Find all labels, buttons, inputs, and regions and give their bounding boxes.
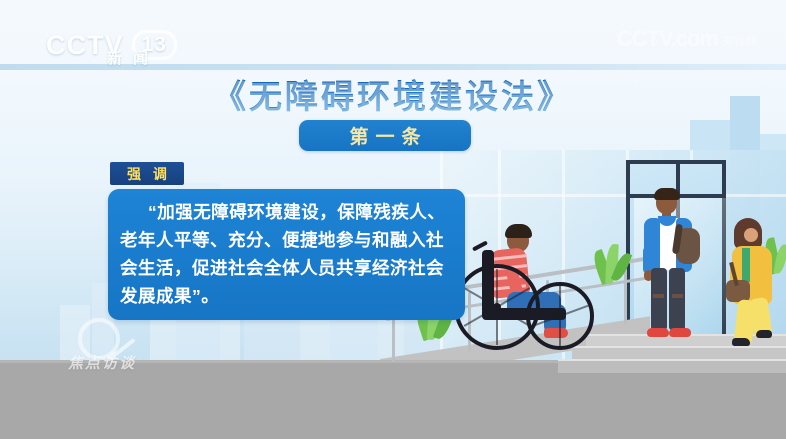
- pavement-ground: [0, 363, 786, 439]
- broadcast-frame: CCTV 13 新闻 CCTV.com 央视网 《无障碍环境建设法》 第一条 强…: [0, 0, 786, 439]
- cctv-channel-subtitle: 新闻: [78, 47, 188, 68]
- law-quote-box: “加强无障碍环境建设，保障残疾人、老年人平等、充分、便捷地参与和融入社会生活，促…: [108, 189, 465, 320]
- emphasis-badge: 强 调: [110, 162, 184, 185]
- figure-wheelchair-user: [452, 224, 602, 360]
- cctv-site-watermark: CCTV.com 央视网: [617, 26, 758, 52]
- article-number-badge: 第一条: [299, 120, 471, 151]
- site-watermark-chinese: 央视网: [722, 33, 758, 52]
- program-watermark: 焦点访谈: [68, 352, 136, 373]
- figure-man-with-backpack: [634, 188, 712, 340]
- figure-woman-yellow: [724, 218, 786, 346]
- page-title: 《无障碍环境建设法》: [0, 70, 786, 118]
- site-watermark-text: CCTV.com: [617, 26, 718, 52]
- law-quote-text: “加强无障碍环境建设，保障残疾人、老年人平等、充分、便捷地参与和融入社会生活，促…: [120, 198, 453, 310]
